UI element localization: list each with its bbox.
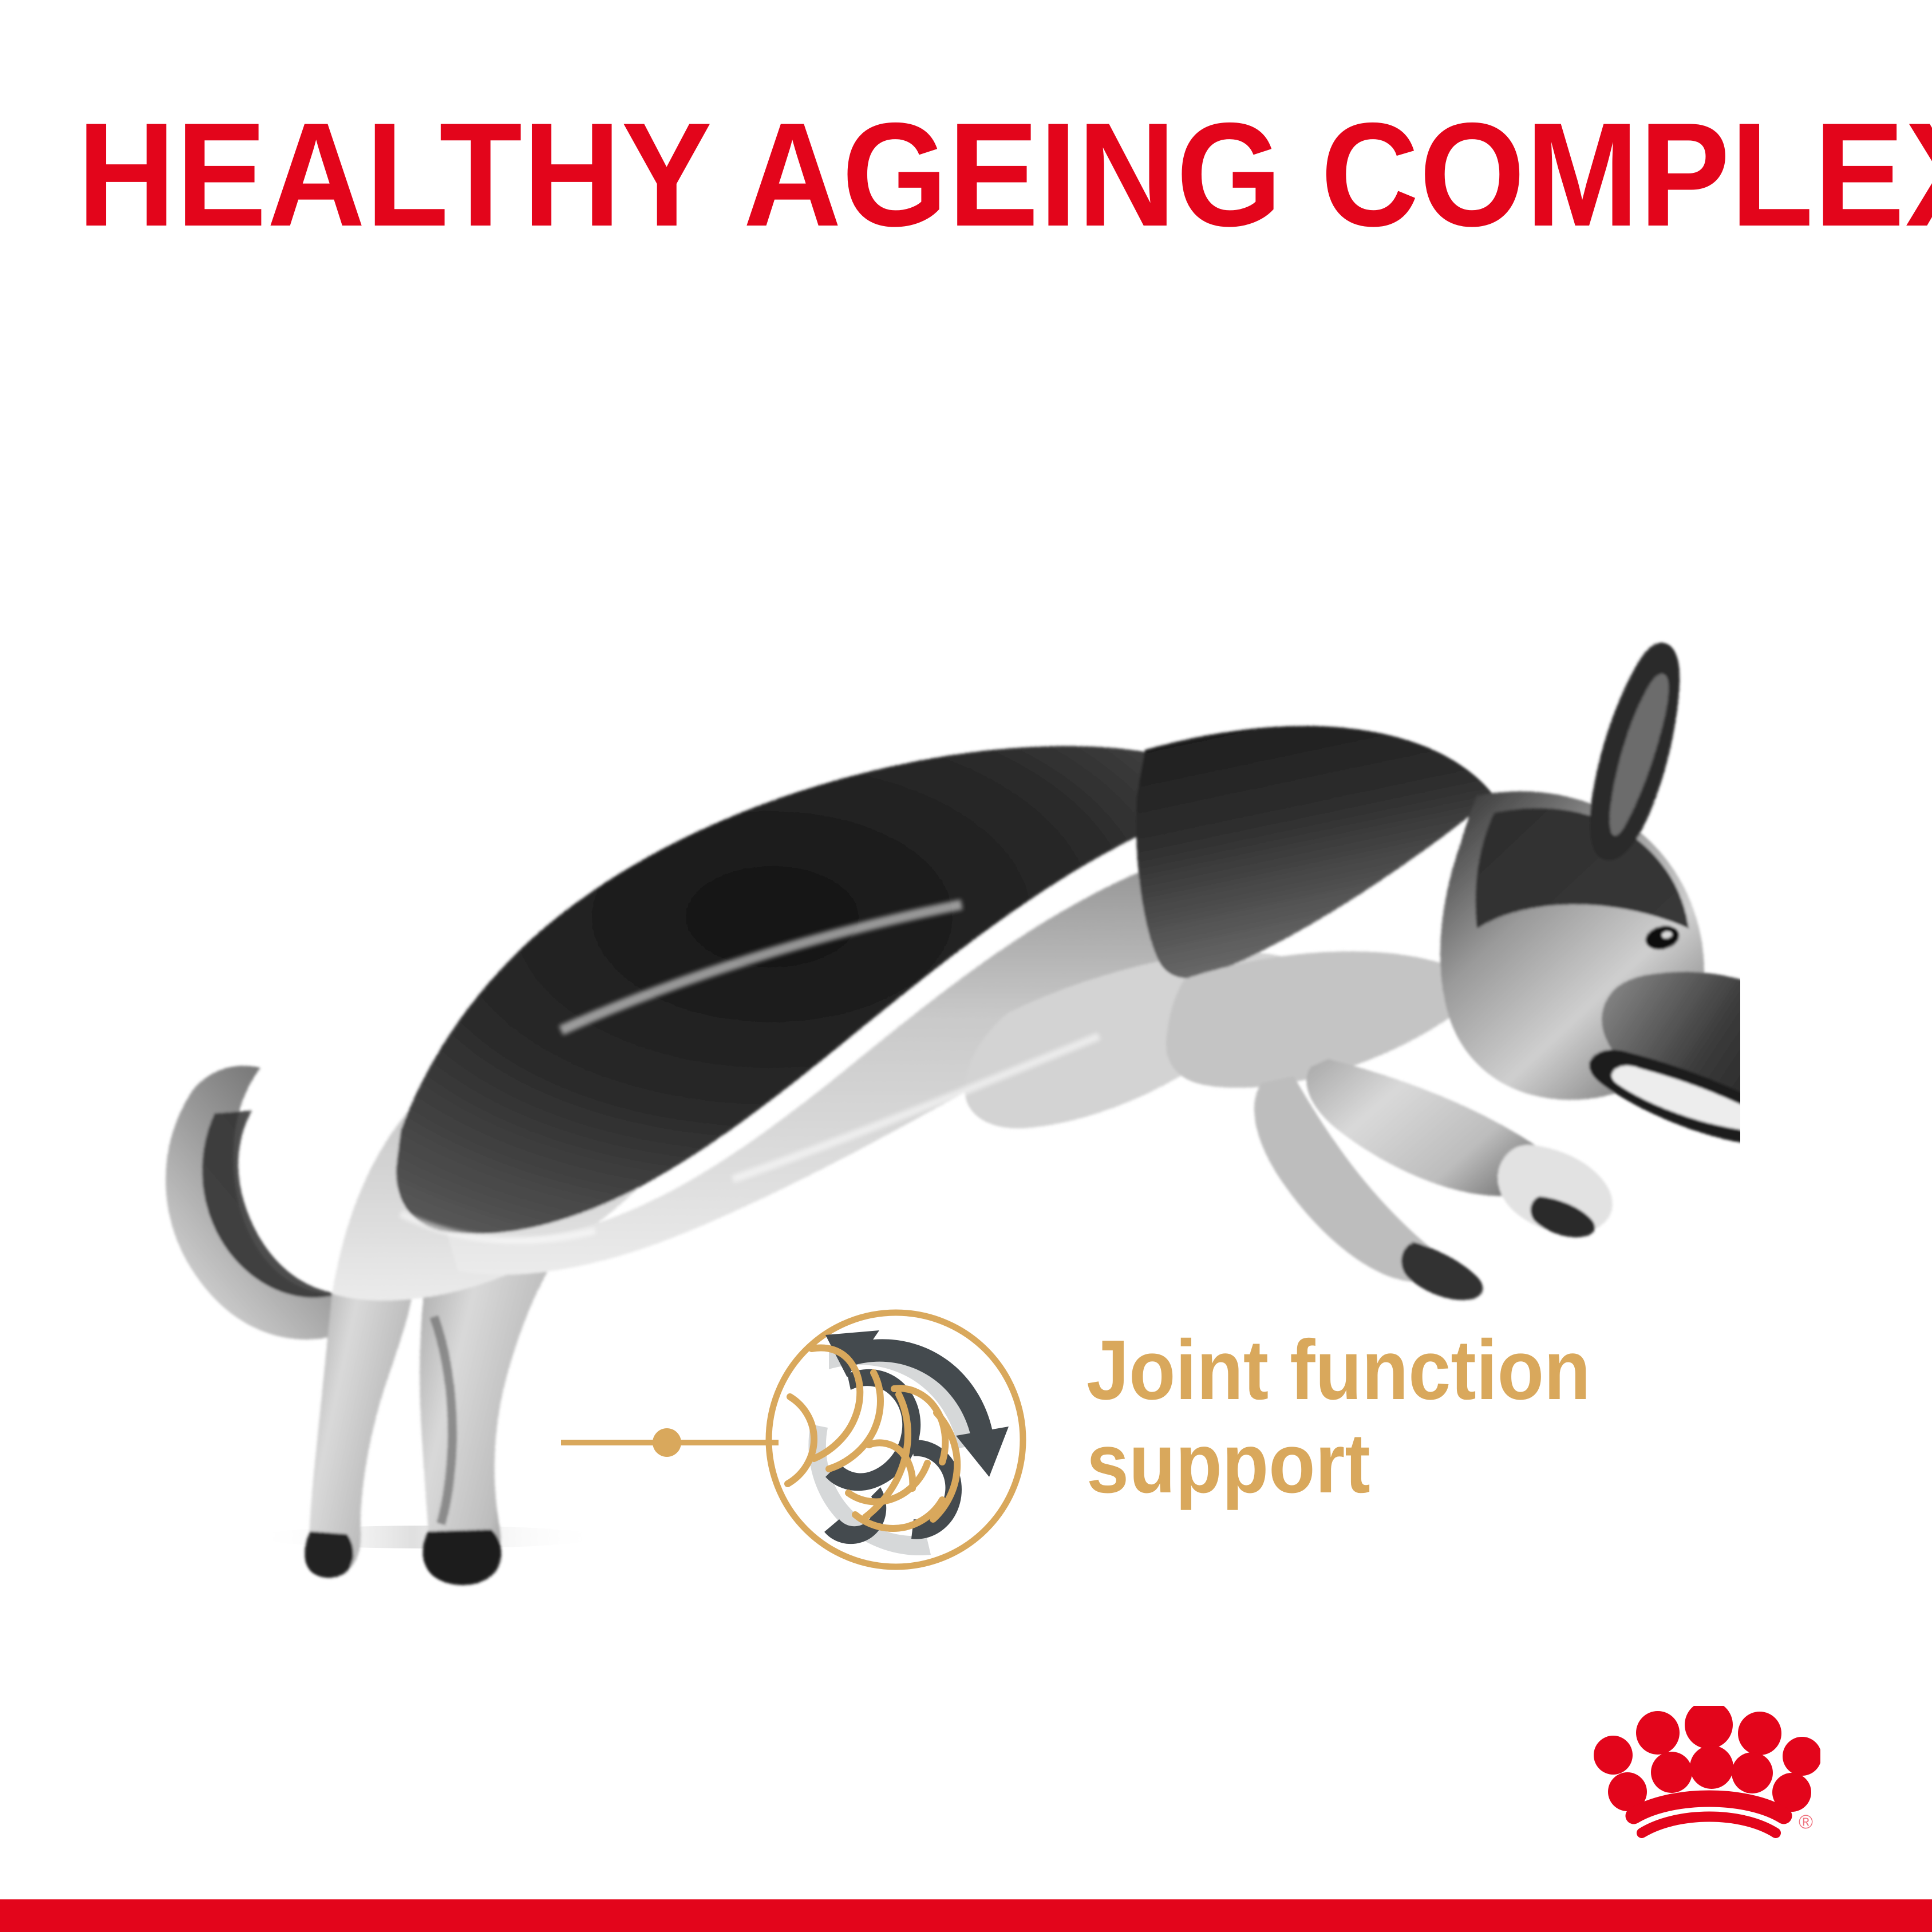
joint-rotation-icon-svg <box>761 1305 1030 1574</box>
registered-trademark-symbol: ® <box>1799 1811 1813 1833</box>
royal-canin-crown-logo-svg: ® <box>1591 1706 1820 1858</box>
connector-node-dot <box>653 1428 681 1457</box>
benefit-connector-line <box>561 1428 779 1457</box>
royal-canin-crown-logo: ® <box>1591 1706 1820 1858</box>
benefit-label: Joint function support <box>1086 1323 1756 1510</box>
joint-rotation-icon <box>761 1305 1030 1574</box>
product-feature-panel: HEALTHY AGEING COMPLEX <box>0 0 1932 1932</box>
page-title: HEALTHY AGEING COMPLEX <box>77 92 1855 258</box>
brand-red-footer-bar <box>0 1899 1932 1932</box>
benefit-label-line-1: Joint function <box>1086 1323 1756 1417</box>
benefit-label-line-2: support <box>1086 1417 1756 1510</box>
crown-arcs <box>1634 1799 1784 1833</box>
